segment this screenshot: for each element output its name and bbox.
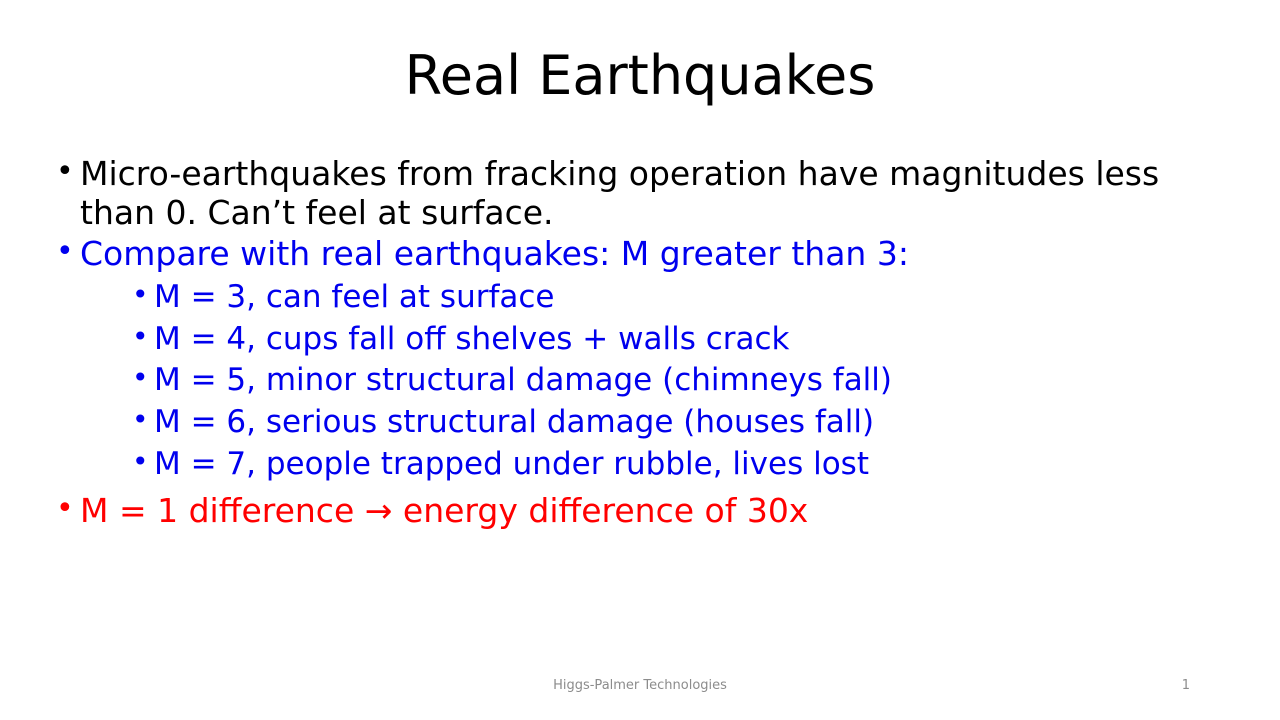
right-arrow-icon: →	[365, 491, 393, 530]
bullet-text: M = 3, can feel at surface	[154, 279, 555, 315]
list-item: • M = 6, serious structural damage (hous…	[128, 403, 1240, 442]
bullet-list-level2: • M = 3, can feel at surface • M = 4, cu…	[80, 278, 1240, 484]
bullet-glyph-icon: •	[132, 277, 149, 312]
bullet-text-after: energy difference of 30x	[392, 491, 808, 530]
bullet-item-energy-difference: • M = 1 difference → energy difference o…	[50, 492, 1240, 531]
bullet-text: M = 5, minor structural damage (chimneys…	[154, 362, 892, 398]
bullet-glyph-icon: •	[56, 153, 74, 191]
bullet-text: Micro-earthquakes from fracking operatio…	[80, 155, 1240, 233]
slide-body: • Micro-earthquakes from fracking operat…	[50, 155, 1240, 533]
bullet-text: M = 1 difference → energy difference of …	[80, 492, 1240, 531]
list-item: • M = 4, cups fall off shelves + walls c…	[128, 320, 1240, 359]
bullet-glyph-icon: •	[132, 444, 149, 479]
bullet-list-level1: • Micro-earthquakes from fracking operat…	[50, 155, 1240, 531]
bullet-glyph-icon: •	[132, 360, 149, 395]
bullet-glyph-icon: •	[132, 402, 149, 437]
list-item: • M = 5, minor structural damage (chimne…	[128, 361, 1240, 400]
slide: Real Earthquakes • Micro-earthquakes fro…	[0, 0, 1280, 720]
list-item: • M = 3, can feel at surface	[128, 278, 1240, 317]
slide-footer: Higgs-Palmer Technologies	[0, 678, 1280, 693]
bullet-glyph-icon: •	[56, 233, 74, 271]
page-title: Real Earthquakes	[0, 0, 1280, 105]
bullet-text: Compare with real earthquakes: M greater…	[80, 235, 1240, 274]
bullet-text: M = 6, serious structural damage (houses…	[154, 404, 874, 440]
bullet-item-micro-earthquakes: • Micro-earthquakes from fracking operat…	[50, 155, 1240, 233]
page-number: 1	[1182, 678, 1190, 693]
bullet-text-before: M = 1 difference	[80, 491, 365, 530]
list-item: • M = 7, people trapped under rubble, li…	[128, 445, 1240, 484]
bullet-text: M = 4, cups fall off shelves + walls cra…	[154, 321, 790, 357]
bullet-glyph-icon: •	[132, 319, 149, 354]
bullet-glyph-icon: •	[56, 490, 74, 528]
bullet-text: M = 7, people trapped under rubble, live…	[154, 446, 869, 482]
bullet-item-compare: • Compare with real earthquakes: M great…	[50, 235, 1240, 484]
